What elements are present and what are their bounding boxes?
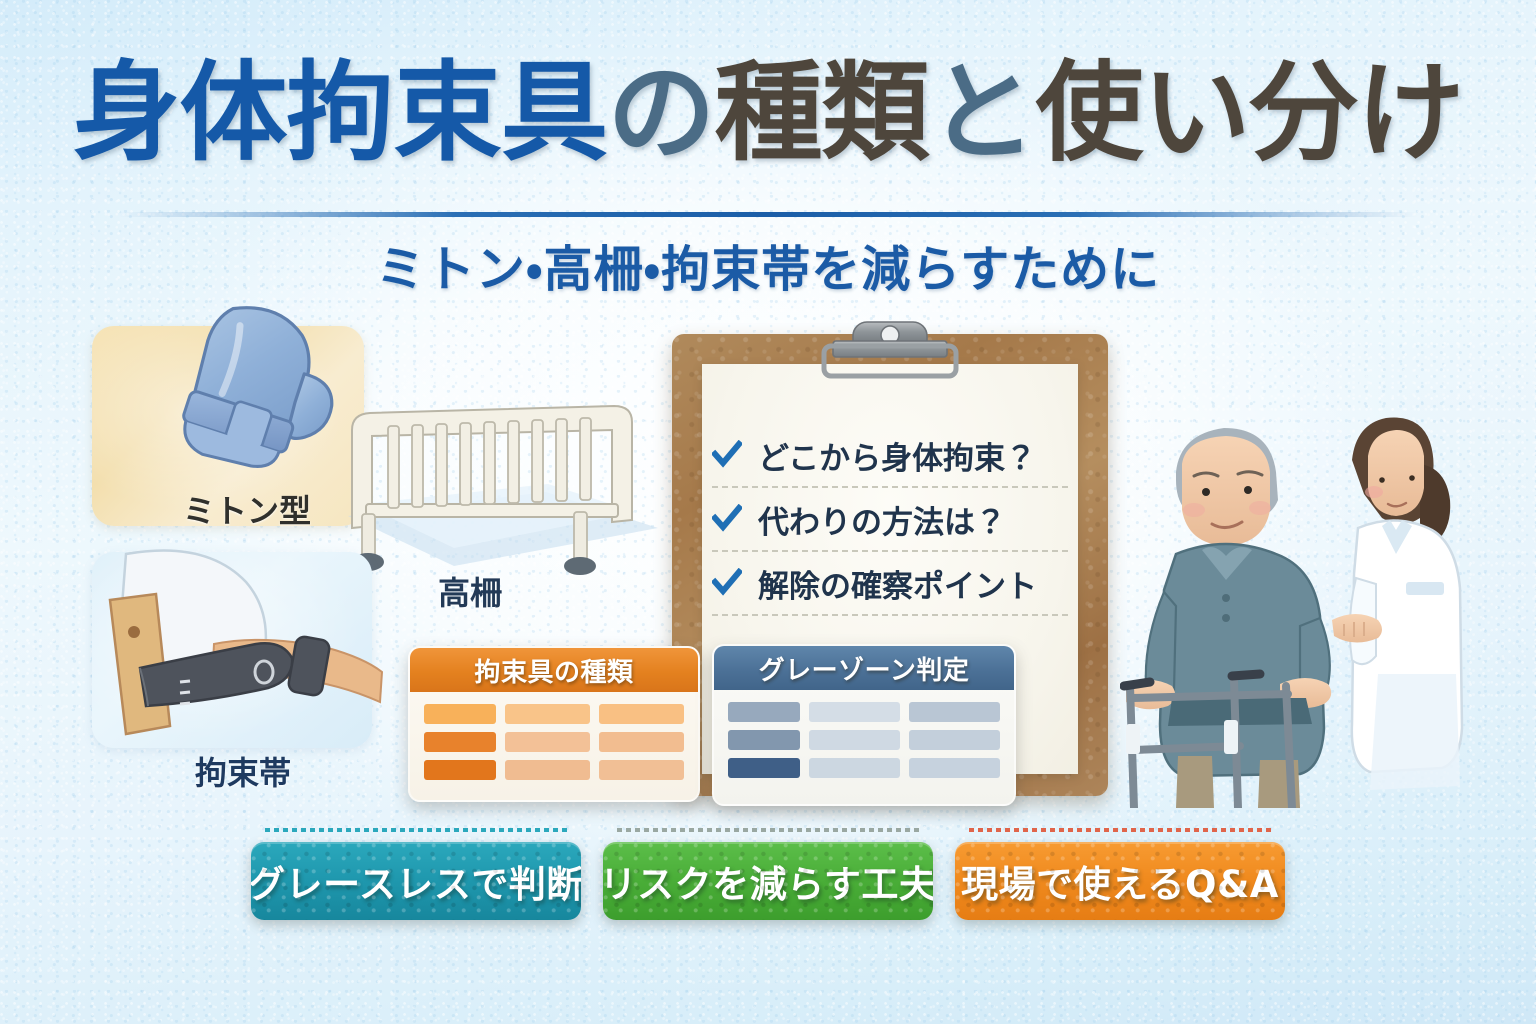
table-cell xyxy=(505,760,590,780)
table-cell xyxy=(909,730,1000,750)
topic-pill-field-qa[interactable]: 現場で使えるQ&A xyxy=(955,842,1285,920)
table-cell xyxy=(505,704,590,724)
title-part-1: 身体拘束具 xyxy=(72,51,607,176)
restraint-belt-icon xyxy=(96,548,386,758)
checklist-item[interactable]: 代わりの方法は？ xyxy=(712,488,1068,552)
nurse-assisting-elderly-walker-icon xyxy=(1120,368,1480,808)
checkmark-icon xyxy=(712,504,742,534)
title-part-3: 種類 xyxy=(714,51,928,176)
checklist-item[interactable]: 解除の確察ポイント xyxy=(712,552,1068,616)
pill-dotted-divider xyxy=(969,828,1271,832)
title-part-5: 使い分け xyxy=(1036,51,1464,176)
checklist-item[interactable]: どこから身体拘束？ xyxy=(712,424,1068,488)
clipboard-clip-icon xyxy=(805,320,975,388)
rail-label: 高柵 xyxy=(380,568,560,614)
table-row xyxy=(728,758,1000,778)
table-cell xyxy=(424,760,496,780)
topic-pill-slot: グレースレスで判断 xyxy=(251,842,581,920)
card-restraint-types[interactable]: 拘束具の種類 xyxy=(408,646,700,802)
topic-pill-label: 現場で使えるQ&A xyxy=(961,854,1279,908)
table-cell xyxy=(599,704,684,724)
topic-pill-label: リスクを減らす工夫 xyxy=(603,854,933,908)
table-row xyxy=(728,702,1000,722)
mitten-restraint-icon xyxy=(150,292,350,492)
topic-pill-row: グレースレスで判断 リスクを減らす工夫 現場で使えるQ&A xyxy=(0,842,1536,920)
table-cell xyxy=(728,758,800,778)
table-cell xyxy=(599,732,684,752)
checklist-item-label: どこから身体拘束？ xyxy=(758,433,1036,478)
checklist-item-label: 解除の確察ポイント xyxy=(758,561,1037,606)
title-divider xyxy=(118,212,1418,217)
infographic-canvas: 身体拘束具の種類と使い分け ミトン・高柵・拘束帯を減らすために ミトン型 xyxy=(0,0,1536,1024)
belt-label: 拘束帯 xyxy=(148,748,338,794)
card-table xyxy=(410,692,698,792)
table-cell xyxy=(728,702,800,722)
checkmark-icon xyxy=(712,440,742,470)
topic-pill-risk-reduction[interactable]: リスクを減らす工夫 xyxy=(603,842,933,920)
mitten-label: ミトン型 xyxy=(152,486,342,532)
table-cell xyxy=(599,760,684,780)
topic-pill-graceless-judgement[interactable]: グレースレスで判断 xyxy=(251,842,581,920)
table-cell xyxy=(809,702,900,722)
table-row xyxy=(424,704,684,724)
table-row xyxy=(424,760,684,780)
page-subtitle: ミトン・高柵・拘束帯を減らすために xyxy=(0,230,1536,301)
table-cell xyxy=(505,732,590,752)
topic-pill-slot: 現場で使えるQ&A xyxy=(955,842,1285,920)
table-cell xyxy=(424,732,496,752)
page-title: 身体拘束具の種類と使い分け xyxy=(0,58,1536,170)
table-cell xyxy=(809,758,900,778)
card-title: グレーゾーン判定 xyxy=(714,646,1014,690)
table-cell xyxy=(728,730,800,750)
checklist: どこから身体拘束？ 代わりの方法は？ 解除の確察ポイント xyxy=(712,424,1068,616)
checkmark-icon xyxy=(712,568,742,598)
table-row xyxy=(424,732,684,752)
card-grayzone-judgement[interactable]: グレーゾーン判定 xyxy=(712,644,1016,806)
table-cell xyxy=(809,730,900,750)
table-row xyxy=(728,730,1000,750)
pill-dotted-divider xyxy=(617,828,919,832)
title-part-4: と xyxy=(929,51,1036,176)
card-title: 拘束具の種類 xyxy=(410,648,698,692)
topic-pill-label: グレースレスで判断 xyxy=(251,854,581,908)
pill-dotted-divider xyxy=(265,828,567,832)
table-cell xyxy=(424,704,496,724)
title-part-2: の xyxy=(607,51,714,176)
table-cell xyxy=(909,702,1000,722)
table-cell xyxy=(909,758,1000,778)
checklist-item-label: 代わりの方法は？ xyxy=(758,497,1006,542)
title-line: 身体拘束具の種類と使い分け xyxy=(0,58,1536,170)
topic-pill-slot: リスクを減らす工夫 xyxy=(603,842,933,920)
card-table xyxy=(714,690,1014,790)
